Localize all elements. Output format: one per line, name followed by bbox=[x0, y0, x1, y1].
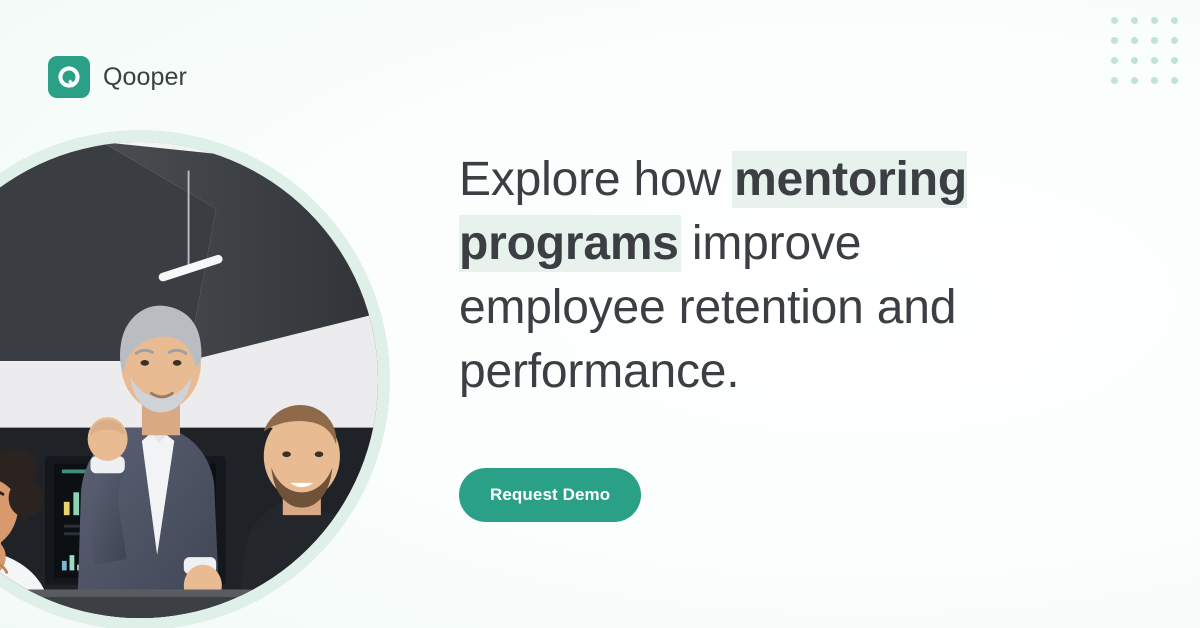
hero-photo-ring bbox=[0, 130, 390, 628]
dot-grid-decoration bbox=[1104, 10, 1184, 90]
dot-icon bbox=[1151, 17, 1158, 24]
dot-icon bbox=[1171, 17, 1178, 24]
dot-icon bbox=[1111, 77, 1118, 84]
qooper-q-logo-icon bbox=[48, 56, 90, 98]
dot-icon bbox=[1111, 57, 1118, 64]
request-demo-button[interactable]: Request Demo bbox=[459, 468, 641, 522]
dot-icon bbox=[1171, 37, 1178, 44]
page-title: Explore how mentoring programs improve e… bbox=[459, 148, 1059, 404]
dot-icon bbox=[1151, 37, 1158, 44]
dot-icon bbox=[1151, 57, 1158, 64]
dot-icon bbox=[1131, 37, 1138, 44]
dot-icon bbox=[1131, 57, 1138, 64]
headline-part-1: Explore how bbox=[459, 153, 734, 206]
dot-icon bbox=[1171, 57, 1178, 64]
dot-icon bbox=[1111, 17, 1118, 24]
brand-logo[interactable]: Qooper bbox=[48, 56, 187, 98]
hero-photo bbox=[0, 142, 378, 618]
brand-name: Qooper bbox=[103, 63, 187, 92]
dot-icon bbox=[1111, 37, 1118, 44]
dot-icon bbox=[1131, 17, 1138, 24]
promo-banner: Qooper bbox=[0, 0, 1200, 628]
dot-icon bbox=[1171, 77, 1178, 84]
dot-icon bbox=[1151, 77, 1158, 84]
dot-icon bbox=[1131, 77, 1138, 84]
